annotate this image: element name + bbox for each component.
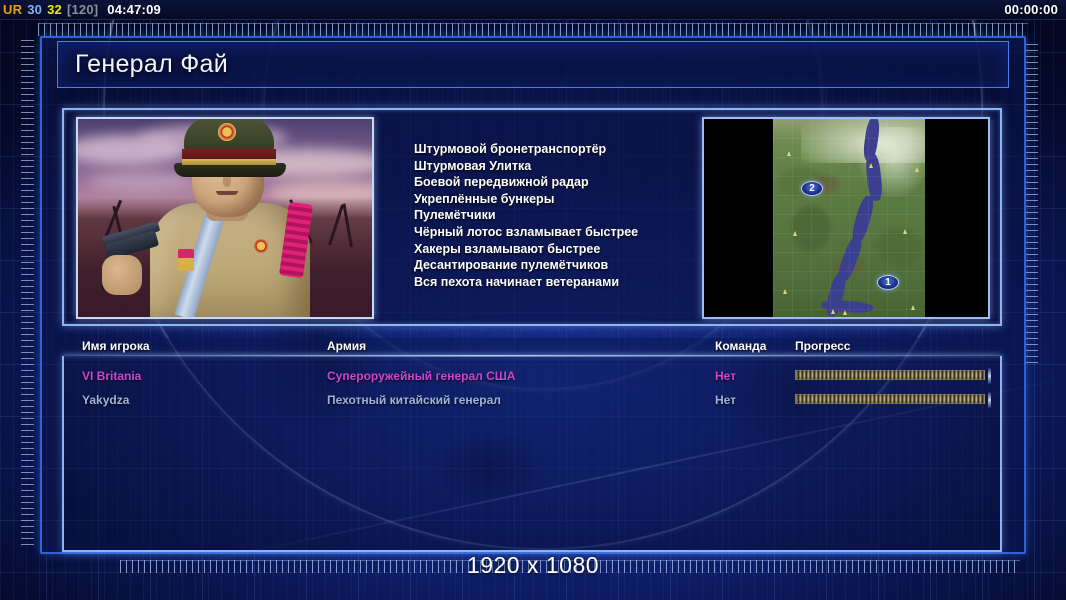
portrait-cap-badge-icon: [218, 123, 236, 141]
ruler-left-decoration: [21, 40, 34, 550]
top-status-bar: UR 30 32 [120] 04:47:09 00:00:00: [0, 0, 1066, 20]
minimap-frame[interactable]: 21: [702, 117, 990, 319]
column-header-army: Армия: [327, 339, 366, 353]
progress-bar-cap: [988, 392, 991, 408]
table-row[interactable]: VI BritaniaСуперору­жейный генерал СШАНе…: [64, 366, 1000, 390]
column-header-team: Команда: [715, 339, 766, 353]
cash-value: 32: [47, 2, 62, 17]
player-name-cell: VI Britania: [82, 369, 141, 383]
portrait-medal: [178, 249, 194, 271]
player-name-cell: Yakydza: [82, 393, 129, 407]
general-portrait-frame: [76, 117, 374, 319]
ability-item: Десантирование пулемётчиков: [414, 257, 744, 274]
general-abilities-list: Штурмовой бронетранспортёр Штурмовая Ули…: [414, 141, 744, 290]
resource-label: UR: [3, 2, 22, 17]
game-time-value: 04:47:09: [107, 2, 161, 17]
resolution-label: 1920 x 1080: [0, 552, 1066, 579]
title-panel: Генерал Фай: [57, 41, 1009, 88]
minimap-image[interactable]: 21: [773, 119, 925, 319]
general-portrait-image: [78, 119, 372, 317]
portrait-hand: [102, 255, 142, 295]
portrait-cap-band: [182, 149, 276, 159]
clock-readout: 00:00:00: [1004, 2, 1066, 17]
power-value: 30: [27, 2, 42, 17]
player-progress-bar: [795, 394, 985, 404]
general-info-panel: Штурмовой бронетранспортёр Штурмовая Ули…: [62, 108, 1002, 326]
minimap-start-position-1[interactable]: 1: [877, 275, 899, 290]
ability-item: Штурмовой бронетранспортёр: [414, 141, 744, 158]
portrait-cap-trim: [182, 159, 276, 165]
player-army-cell: Суперору­жейный генерал США: [327, 369, 515, 383]
ability-item: Укреплённые бункеры: [414, 191, 744, 208]
ability-item: Хакеры взламывают быстрее: [414, 241, 744, 258]
minimap-start-position-2[interactable]: 2: [801, 181, 823, 196]
progress-bar-cap: [988, 368, 991, 384]
cash-max-value: [120]: [67, 2, 98, 17]
ruler-top-decoration: [38, 23, 1028, 36]
page-title: Генерал Фай: [58, 50, 228, 79]
column-header-player-name: Имя игрока: [82, 339, 150, 353]
portrait-cap-brim: [174, 163, 286, 177]
player-progress-bar: [795, 370, 985, 380]
ability-item: Пулемётчики: [414, 207, 744, 224]
resource-readout: UR 30 32 [120] 04:47:09: [0, 2, 161, 17]
table-row[interactable]: YakydzaПехотный китайский генералНет: [64, 390, 1000, 414]
ability-item: Штурмовая Улитка: [414, 158, 744, 175]
player-team-cell: Нет: [715, 369, 736, 383]
player-team-cell: Нет: [715, 393, 736, 407]
player-table-header: Имя игрока Армия Команда Прогресс: [62, 338, 1002, 355]
minimap-grid-overlay: [773, 119, 925, 319]
ability-item: Вся пехота начинает ветеранами: [414, 274, 744, 291]
column-header-progress: Прогресс: [795, 339, 850, 353]
ability-item: Чёрный лотос взламывает быстрее: [414, 224, 744, 241]
player-table-panel: VI BritaniaСуперору­жейный генерал СШАНе…: [62, 356, 1002, 552]
portrait-mouth: [216, 191, 238, 195]
player-army-cell: Пехотный китайский генерал: [327, 393, 501, 407]
ability-item: Боевой передвижной радар: [414, 174, 744, 191]
portrait-medal: [254, 239, 268, 253]
ruler-right-decoration: [1025, 44, 1038, 364]
